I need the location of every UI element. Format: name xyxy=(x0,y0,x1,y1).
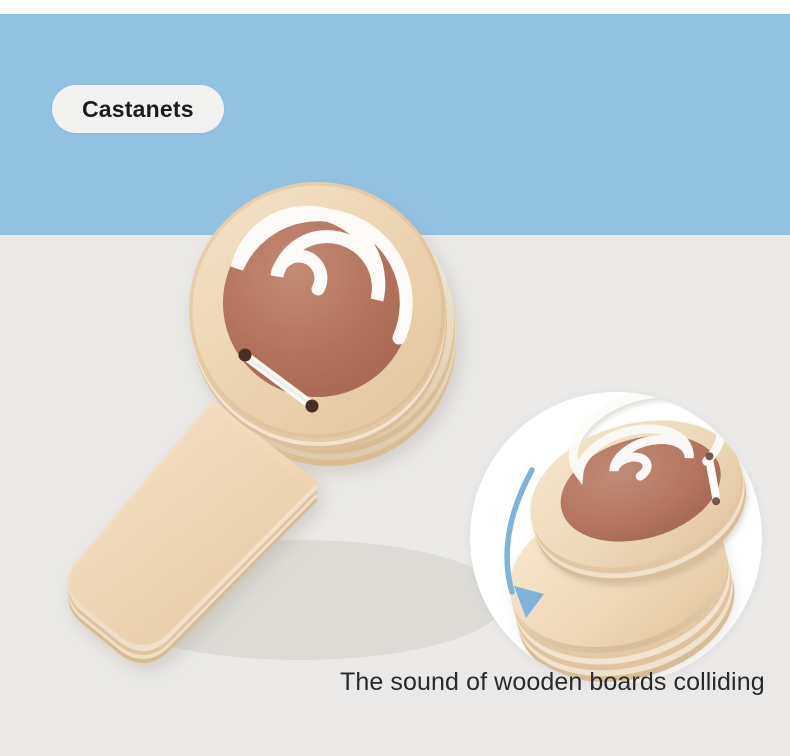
product-image-canvas: Castanets xyxy=(0,0,790,756)
clapping-detail-callout xyxy=(470,392,762,684)
callout-contents xyxy=(470,392,762,684)
cord-hole-upper xyxy=(239,349,252,362)
caption-text: The sound of wooden boards colliding xyxy=(340,668,765,697)
cord-hole-lower xyxy=(306,400,319,413)
